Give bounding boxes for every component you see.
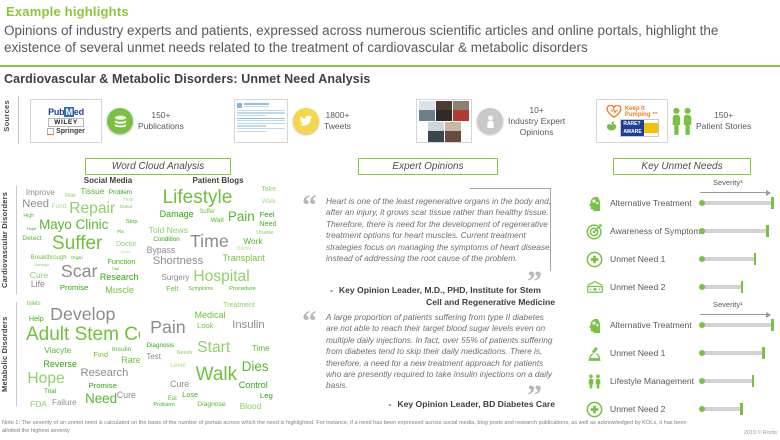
wordcloud-word: Organ <box>71 256 83 260</box>
wordcloud-word: Treatment <box>223 302 255 309</box>
severity-bar-end-cap <box>754 253 757 265</box>
wordcloud-word: Hope <box>27 227 37 231</box>
footnote: Note 1: The severity of an unmet need is… <box>2 420 692 435</box>
wordcloud-word: Diagnosis <box>147 343 174 349</box>
wordcloud-word: Need <box>259 220 276 227</box>
wordcloud-word: Breakthrough <box>31 255 67 261</box>
quote-attribution-cardio: -Key Opinion Leader, M.D., PHD, Institut… <box>330 285 555 308</box>
wordcloud-word: Repair <box>69 201 115 217</box>
need-label: Awareness of Symptoms <box>610 226 705 236</box>
wordcloud-word: Cure <box>30 271 48 280</box>
wordcloud-word: Time <box>252 345 270 353</box>
wordcloud-word: Transplant <box>223 254 265 263</box>
wordcloud-word: Told News <box>149 226 188 235</box>
severity-bar-start-dot <box>699 406 705 412</box>
wordcloud-word: Trial <box>111 267 119 271</box>
wordcloud-word: Needs <box>177 351 193 357</box>
publisher-logos: PubMed WILEY Springer <box>30 99 102 143</box>
wordcloud-word: Insulin <box>232 320 264 331</box>
wordcloud-word: Heal <box>123 198 133 203</box>
need-label: Unmet Need 1 <box>610 254 665 264</box>
database-icon <box>107 108 133 134</box>
severity-bar-track <box>700 351 763 354</box>
wordcloud-word: Damage <box>160 210 194 219</box>
patient-org-logos: Keep ItPumping ™ RARE?AWARE <box>596 99 668 143</box>
wordcloud-word: Stop <box>126 220 138 226</box>
springer-logo: Springer <box>47 128 85 135</box>
wiley-logo: WILEY <box>48 118 84 127</box>
need-label: Lifestyle Management <box>610 376 694 386</box>
wordcloud-word: Tissue <box>80 188 104 196</box>
header-divider <box>0 65 780 67</box>
wordcloud-word: Detect <box>22 236 42 243</box>
severity-bar-end-cap <box>762 347 765 359</box>
wordcloud-cardio-patient-blogs: LifestyleTimeHospitalPainShortnessDamage… <box>146 186 276 296</box>
page-title: Cardiovascular & Metabolic Disorders: Un… <box>4 72 370 86</box>
wordcloud-word: Research <box>80 368 128 379</box>
severity-bar-track <box>700 407 741 410</box>
wordcloud-word: Condition <box>153 237 179 243</box>
severity-bar-end-cap <box>740 403 743 415</box>
quote-text-metabolic: A large proportion of patients suffering… <box>326 312 554 392</box>
wordcloud-word: Grow <box>120 250 130 254</box>
wordcloud-word: Help <box>29 315 44 322</box>
wordcloud-word: Doctor <box>116 241 137 248</box>
severity-bar-start-dot <box>699 284 705 290</box>
wordcloud-word: Lose <box>182 391 198 398</box>
wordcloud-word: Feel <box>260 211 275 219</box>
wordcloud-word: Adult Stem Cell <box>26 325 140 344</box>
need-label: Unmet Need 2 <box>610 282 665 292</box>
source-group-patients: Keep ItPumping ™ RARE?AWARE <box>596 92 751 150</box>
wordcloud-word: Rare <box>121 356 140 365</box>
patients-icon <box>668 106 696 136</box>
quote-attribution-metabolic: -Key Opinion Leader, BD Diabetes Care <box>330 399 555 411</box>
eyebrow-label: Example highlights <box>6 4 129 19</box>
wordcloud-word: Test <box>146 353 161 361</box>
wordcloud-word: Hope <box>27 371 64 387</box>
wordcloud-word: Medical <box>195 311 226 320</box>
wordcloud-word: Suffer <box>199 209 215 215</box>
sources-label: Sources <box>2 100 16 132</box>
wordcloud-word: Start <box>197 340 230 356</box>
severity-arrow-metabolic <box>700 314 770 315</box>
heart-icon <box>606 105 622 118</box>
wordcloud-metabolic-social-media: Adult Stem CellDevelopHopeNeedResearchRe… <box>22 300 140 412</box>
apple-logo-icon <box>605 121 617 135</box>
wordcloud-word: Improve <box>26 189 55 197</box>
wordcloud-word: High <box>23 214 34 219</box>
source-group-tweets: 1800+Tweets <box>234 92 351 150</box>
wordcloud-word: Fund <box>52 204 67 211</box>
wordcloud-word: Look <box>197 322 213 330</box>
head-gears-icon <box>586 195 603 212</box>
expert-photos <box>416 99 472 143</box>
wordcloud-word: Control <box>239 381 268 390</box>
source-group-publications: PubMed WILEY Springer 150+Publications <box>30 92 184 150</box>
wordcloud-word: Hospital <box>193 269 249 285</box>
severity-bar-track <box>700 229 767 232</box>
medical-cross-icon <box>586 251 603 268</box>
severity-bar-start-dot <box>699 322 705 328</box>
springer-mark-icon <box>47 128 54 135</box>
severity-bar-track <box>700 323 772 326</box>
column-header-word-cloud: Word Cloud Analysis <box>85 158 231 175</box>
wordcloud-word: Find <box>93 351 108 359</box>
wordcloud-title-patient-blogs: Patient Blogs <box>168 176 268 185</box>
copyright-label: 2019 © Roots <box>744 430 777 436</box>
tweet-thumbnail <box>234 99 288 143</box>
wordcloud-word: Diagnose <box>197 402 226 409</box>
wordcloud-word: Procedure <box>229 287 256 293</box>
severity-bar-start-dot <box>699 228 705 234</box>
wordcloud-word: Take <box>261 186 276 193</box>
wordcloud-word: Unable <box>256 231 273 237</box>
severity-bar-end-cap <box>741 281 744 293</box>
column-header-expert-opinions: Expert Opinions <box>358 158 498 175</box>
severity-bar-track <box>700 379 753 382</box>
severity-bar-start-dot <box>699 378 705 384</box>
wordcloud-word: Promise <box>88 382 116 390</box>
need-label: Alternative Treatment <box>610 198 692 208</box>
wordcloud-word: Reverse <box>43 360 77 369</box>
wordcloud-word: Work <box>243 238 262 246</box>
severity-bar-end-cap <box>771 319 774 331</box>
wordcloud-word: Need <box>85 392 117 405</box>
twitter-icon <box>293 108 319 134</box>
wordcloud-metabolic-patient-blogs: WalkPainStartDiesInsulinControlMedicalCu… <box>146 300 276 412</box>
sources-divider <box>18 96 19 144</box>
wordcloud-word: Fix <box>117 231 123 236</box>
wordcloud-word: Cure <box>170 380 189 389</box>
severity-bar-track <box>700 257 755 260</box>
wordcloud-word: Felt <box>166 285 179 293</box>
wordcloud-word: Walk <box>196 365 238 384</box>
source-group-experts: 10+Industry ExpertOpinions <box>416 92 565 150</box>
wordcloud-word: Need <box>22 199 49 210</box>
wordcloud-word: Cure <box>117 391 136 400</box>
pubmed-logo: PubMed <box>48 107 84 117</box>
wordcloud-word: Damage <box>34 263 49 267</box>
wordcloud-word: Pain <box>228 210 255 223</box>
wordcloud-word: Dies <box>242 360 269 373</box>
severity-arrow-cardio <box>700 192 770 193</box>
source-count-publications: 150+Publications <box>138 110 184 132</box>
wordcloud-cardio-social-media: SufferScarRepairMayo ClinicNeedResearchM… <box>22 186 140 296</box>
wordcloud-word: Suffer <box>52 234 102 253</box>
severity-bar-track <box>700 285 742 288</box>
wordcloud-word: Islets <box>27 301 41 307</box>
wordcloud-word: Surgery <box>161 274 189 282</box>
wordcloud-word: Donor <box>120 205 132 210</box>
target-icon <box>586 223 603 240</box>
wordcloud-word: Pain <box>150 319 186 337</box>
head-gears-icon <box>586 317 603 334</box>
row-label-cardiovascular: Cardiovascular Disorders <box>0 186 15 294</box>
wordcloud-word: Function <box>107 258 135 265</box>
quote-open-icon: “ <box>302 196 317 216</box>
wordcloud-word: Walk <box>262 199 276 206</box>
wordcloud-word: Develop <box>50 306 115 324</box>
severity-bar-end-cap <box>752 375 755 387</box>
wordcloud-word: Muscle <box>105 286 134 295</box>
severity-bar-end-cap <box>771 197 774 209</box>
source-count-tweets: 1800+Tweets <box>324 110 351 132</box>
source-count-patients: 150+Patient Stories <box>696 110 751 132</box>
wordcloud-word: Research <box>100 273 139 282</box>
wordcloud-word: Insulin <box>112 347 132 354</box>
severity-bar-start-dot <box>699 350 705 356</box>
wordcloud-word: Blood <box>240 402 262 411</box>
wordcloud-word: Lifestyle <box>163 188 233 207</box>
wordcloud-word: Mayo Clinic <box>39 218 108 231</box>
quote-open-icon-2: “ <box>302 312 317 332</box>
wordcloud-word: Promise <box>60 284 88 292</box>
microscope-icon <box>586 345 603 362</box>
need-label: Unmet Need 2 <box>610 404 665 414</box>
severity-bar-end-cap <box>766 225 769 237</box>
money-icon <box>586 279 603 296</box>
wordcloud-word: Wait <box>211 218 224 225</box>
source-count-experts: 10+Industry ExpertOpinions <box>508 105 565 138</box>
wordcloud-word: Viacyte <box>44 347 71 355</box>
row-label-metabolic: Metabolic Disorders <box>0 302 15 406</box>
row-divider-metabolic <box>16 302 17 406</box>
wordcloud-word: Scar <box>61 263 98 281</box>
quote-text-cardio: Heart is one of the least regenerative o… <box>326 196 554 264</box>
severity-bar-start-dot <box>699 200 705 206</box>
wordcloud-word: Problem <box>153 403 174 409</box>
wordcloud-word: Shortness <box>153 256 203 267</box>
wordcloud-word: Risk <box>65 194 76 200</box>
rare-aware-logo: RARE?AWARE <box>620 119 658 137</box>
wordcloud-word: FDA <box>30 400 47 409</box>
wordcloud-word: Level <box>170 363 186 370</box>
person-icon <box>477 108 503 134</box>
need-label: Unmet Need 1 <box>610 348 665 358</box>
column-header-key-unmet-needs: Key Unmet Needs <box>613 158 751 175</box>
two-people-icon <box>586 373 603 390</box>
severity-label-metabolic: Severity¹ <box>713 300 743 309</box>
wordcloud-word: Eat <box>168 396 177 402</box>
severity-bar-start-dot <box>699 256 705 262</box>
severity-label-cardio: Severity¹ <box>713 178 743 187</box>
wordcloud-word: Failure <box>52 399 76 407</box>
wordcloud-word: Trial <box>44 389 56 395</box>
slide-root: Example highlights Opinions of industry … <box>0 0 780 440</box>
row-divider-cardio <box>16 186 17 294</box>
medical-cross-icon <box>586 401 603 418</box>
wordcloud-word: Symptoms <box>188 287 213 292</box>
wordcloud-word: Life <box>31 280 45 289</box>
wordcloud-word: Problem <box>109 190 132 196</box>
need-label: Alternative Treatment <box>610 320 692 330</box>
wordcloud-word: Bypass <box>147 246 176 255</box>
sources-row: PubMed WILEY Springer 150+Publications <box>26 92 778 150</box>
wordcloud-title-social-media: Social Media <box>58 176 158 185</box>
severity-bar-track <box>700 201 772 204</box>
headline-text: Opinions of industry experts and patient… <box>4 22 770 56</box>
wordcloud-word: Time <box>190 233 229 251</box>
wordcloud-word: Doctor <box>237 247 252 252</box>
wordcloud-word: Leg <box>260 392 273 400</box>
